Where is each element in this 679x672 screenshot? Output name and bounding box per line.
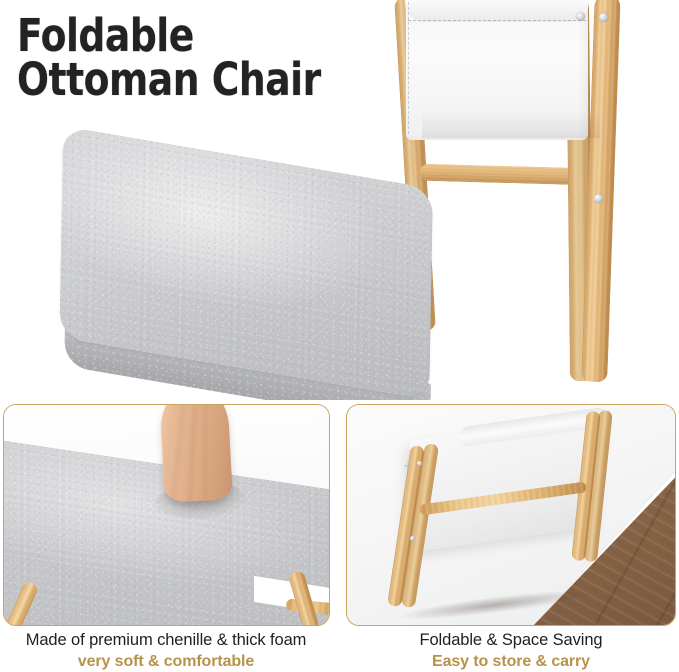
caption-foldable: Foldable & Space Saving Easy to store & … xyxy=(346,630,676,672)
screw-icon xyxy=(404,462,409,467)
caption-main-text: Made of premium chenille & thick foam xyxy=(2,630,330,651)
screw-icon xyxy=(417,461,422,466)
sling-roll-edge xyxy=(405,0,589,22)
caption-sub-text: Easy to store & carry xyxy=(346,652,676,672)
screw-icon xyxy=(594,194,603,203)
sling-stitch-horizontal xyxy=(408,20,586,21)
hero-cushion xyxy=(63,126,453,386)
screw-icon xyxy=(599,13,608,22)
caption-sub-text: very soft & comfortable xyxy=(2,652,330,672)
caption-softness: Made of premium chenille & thick foam ve… xyxy=(2,630,330,672)
title-line-1: Foldable xyxy=(17,14,321,58)
feature-panel-softness xyxy=(3,404,330,626)
product-infographic: Foldable Ottoman Chair xyxy=(0,0,679,672)
hand-pressing xyxy=(159,404,233,503)
feature-panel-foldable xyxy=(346,404,676,626)
page-title: Foldable Ottoman Chair xyxy=(17,14,321,102)
hero-section: Foldable Ottoman Chair xyxy=(0,0,679,400)
screw-icon xyxy=(410,536,415,541)
sling-stitch-vertical xyxy=(408,2,409,134)
hand-shading xyxy=(159,404,233,503)
caption-main-text: Foldable & Space Saving xyxy=(346,630,676,651)
title-line-2: Ottoman Chair xyxy=(17,58,321,102)
feature-panels: Made of premium chenille & thick foam ve… xyxy=(0,404,679,672)
